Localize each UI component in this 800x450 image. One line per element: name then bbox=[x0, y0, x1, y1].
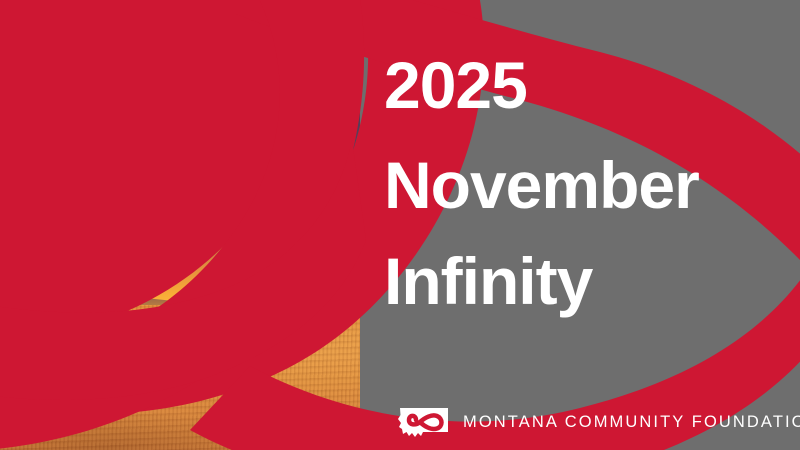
promo-graphic: 2025 November Infinity Montana Community… bbox=[0, 0, 800, 450]
wheat-texture bbox=[0, 305, 360, 450]
montana-infinity-icon bbox=[396, 401, 452, 443]
logo-wordmark: Montana Community Foundation bbox=[463, 413, 800, 432]
montana-community-foundation-logo: Montana Community Foundation bbox=[396, 399, 800, 445]
headline-month: November bbox=[384, 152, 699, 218]
headline-word: Infinity bbox=[384, 248, 592, 314]
sunset-landscape-photo bbox=[0, 0, 360, 450]
headline-year: 2025 bbox=[384, 52, 527, 118]
